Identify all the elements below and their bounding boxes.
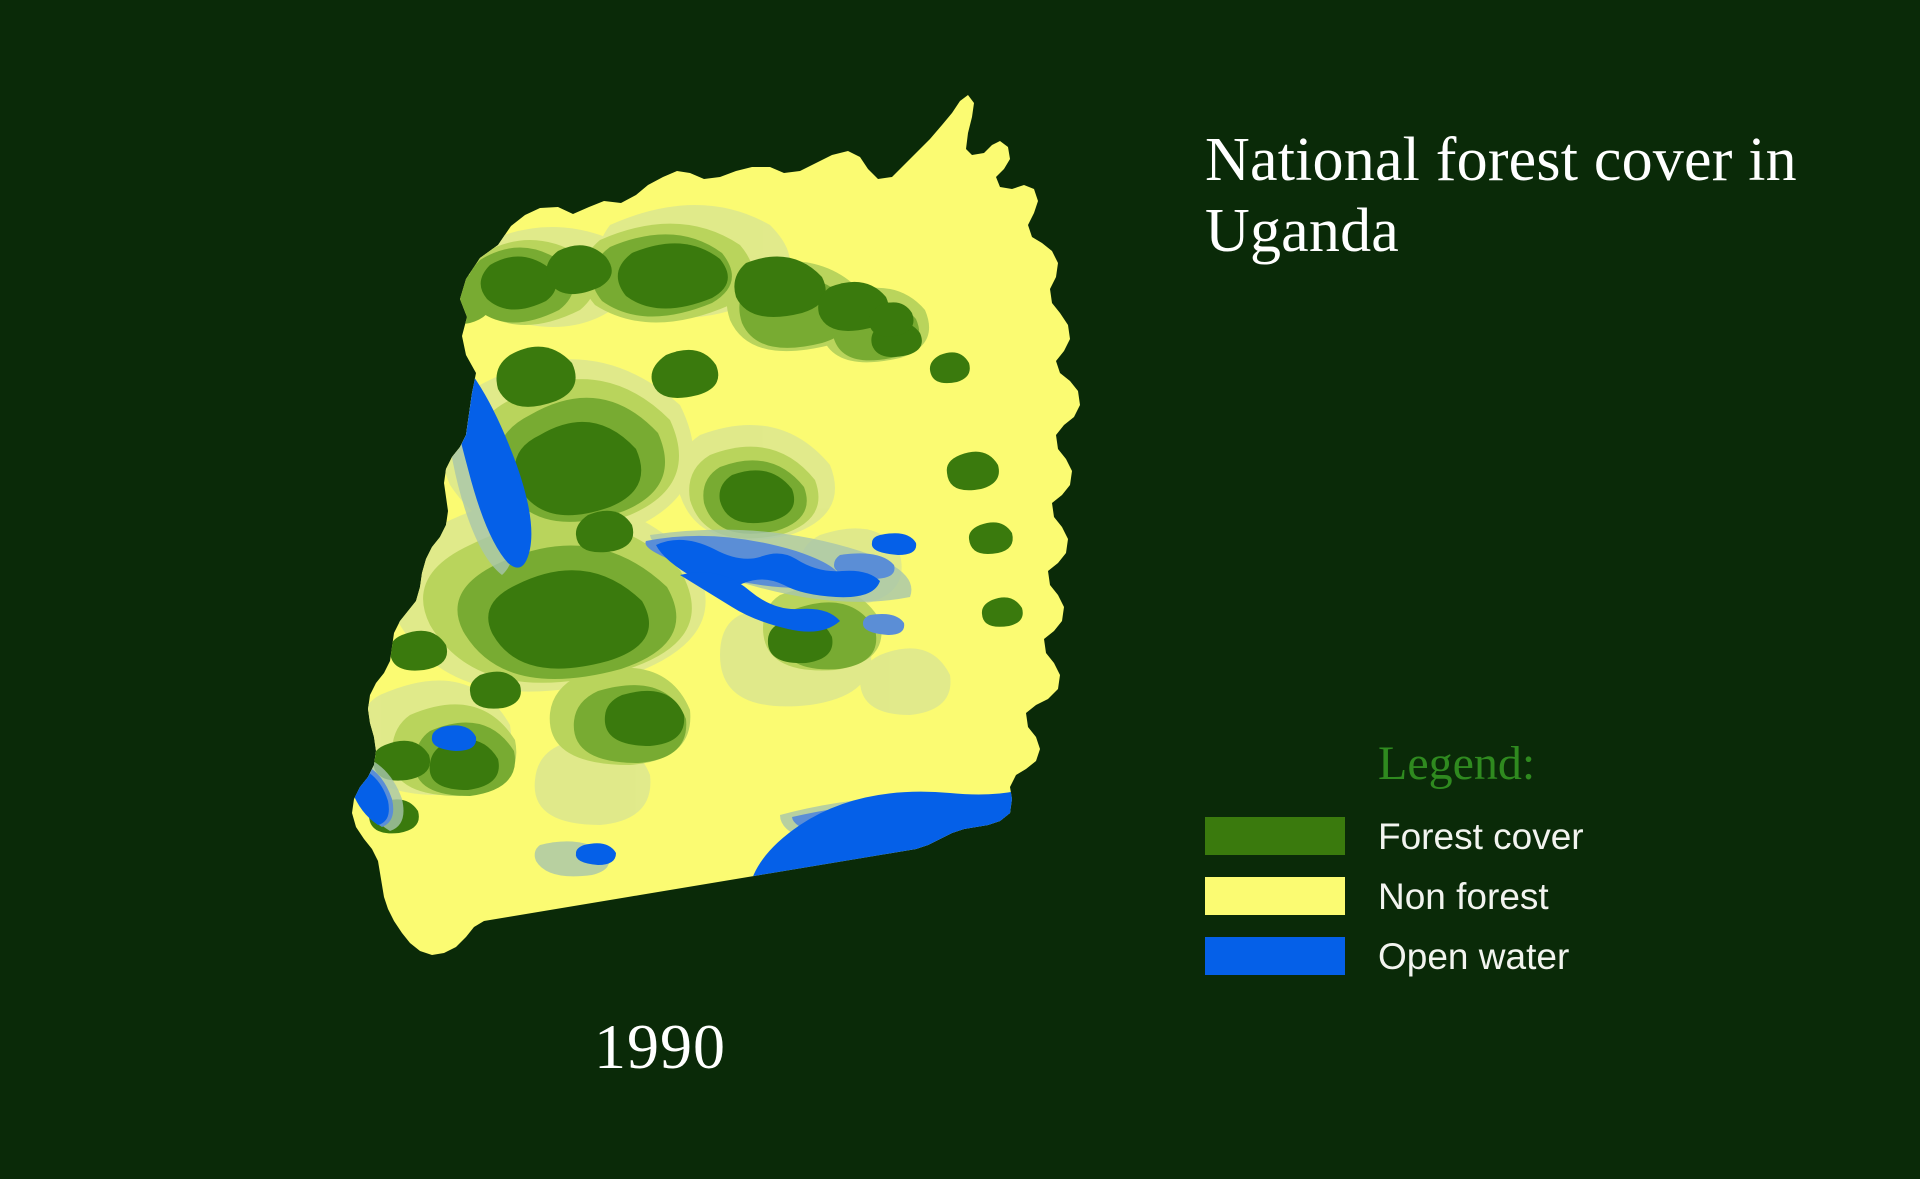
map-year-caption: 1990 [180,1015,1140,1079]
legend-label-forest-cover: Forest cover [1378,818,1584,855]
legend-swatch-forest-cover [1205,817,1345,855]
legend-label-non-forest: Non forest [1378,878,1549,915]
title-block: National forest cover in Uganda [1205,125,1805,266]
legend-item-forest-cover: Forest cover [1205,806,1805,866]
uganda-forest-cover-map [180,55,1140,1055]
page-title: National forest cover in Uganda [1205,125,1805,266]
legend-item-non-forest: Non forest [1205,866,1805,926]
screenshot-root: 1990 National forest cover in Uganda Leg… [0,0,1920,1179]
legend-swatch-open-water [1205,937,1345,975]
legend-heading: Legend: [1378,740,1805,788]
legend-item-open-water: Open water [1205,926,1805,986]
legend-label-open-water: Open water [1378,938,1569,975]
legend-swatch-non-forest [1205,877,1345,915]
legend: Legend: Forest cover Non forest Open wat… [1205,740,1805,986]
uganda-map-svg [180,55,1140,1055]
